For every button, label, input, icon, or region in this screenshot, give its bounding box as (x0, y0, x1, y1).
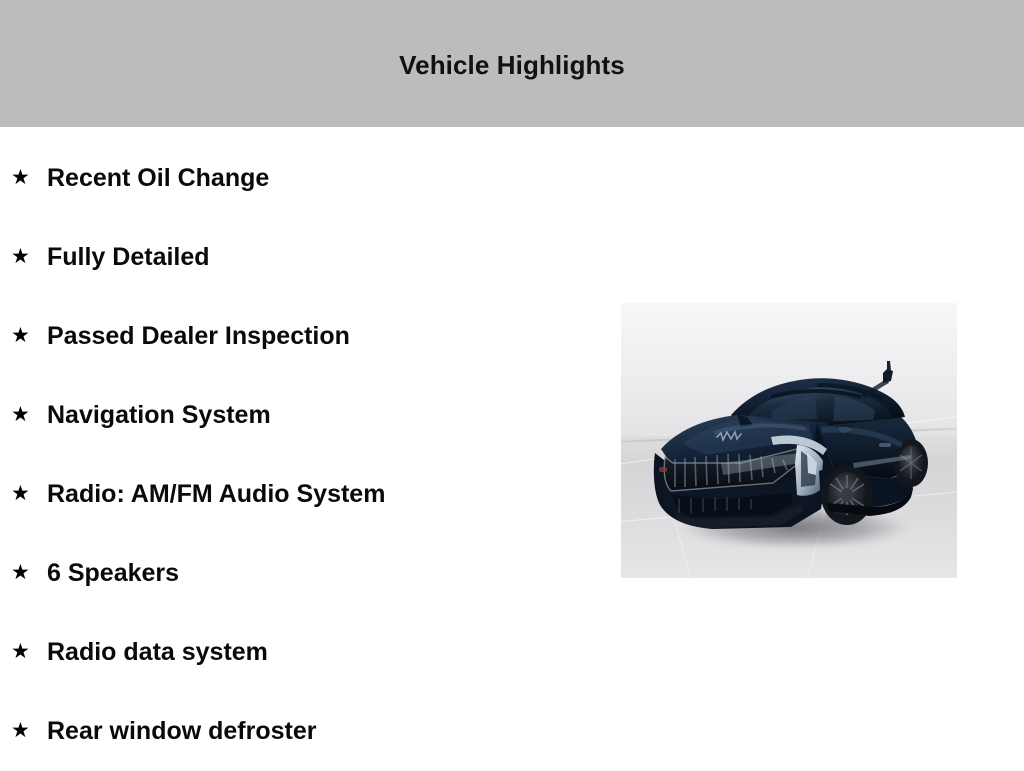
list-item-label: 6 Speakers (47, 559, 179, 588)
front-wheel-hub (841, 488, 853, 502)
list-item-label: Fully Detailed (47, 243, 210, 272)
door-handle (879, 443, 891, 447)
star-icon: ★ (11, 562, 47, 583)
list-item-label: Navigation System (47, 401, 271, 430)
list-item: ★ Radio data system (0, 613, 600, 692)
list-item-label: Radio: AM/FM Audio System (47, 480, 385, 509)
side-marker-light (659, 467, 667, 472)
list-item-label: Rear window defroster (47, 717, 317, 746)
star-icon: ★ (11, 167, 47, 188)
list-item: ★ Passed Dealer Inspection (0, 297, 600, 376)
list-item-label: Radio data system (47, 638, 268, 667)
star-icon: ★ (11, 641, 47, 662)
vehicle-illustration (621, 303, 957, 578)
list-item-label: Passed Dealer Inspection (47, 322, 350, 351)
star-icon: ★ (11, 483, 47, 504)
antenna-mast (887, 361, 891, 371)
header-band: Vehicle Highlights (0, 0, 1024, 127)
list-item: ★ Radio: AM/FM Audio System (0, 455, 600, 534)
list-item-label: Recent Oil Change (47, 164, 269, 193)
list-item: ★ Navigation System (0, 376, 600, 455)
vehicle-highlights-list: ★ Recent Oil Change ★ Fully Detailed ★ P… (0, 139, 600, 771)
star-icon: ★ (11, 720, 47, 741)
list-item: ★ 6 Speakers (0, 534, 600, 613)
list-item: ★ Recent Oil Change (0, 139, 600, 218)
star-icon: ★ (11, 246, 47, 267)
page-title: Vehicle Highlights (0, 50, 1024, 80)
list-item: ★ Fully Detailed (0, 218, 600, 297)
list-item: ★ Rear window defroster (0, 692, 600, 771)
star-icon: ★ (11, 404, 47, 425)
star-icon: ★ (11, 325, 47, 346)
vehicle-photo (621, 303, 957, 578)
